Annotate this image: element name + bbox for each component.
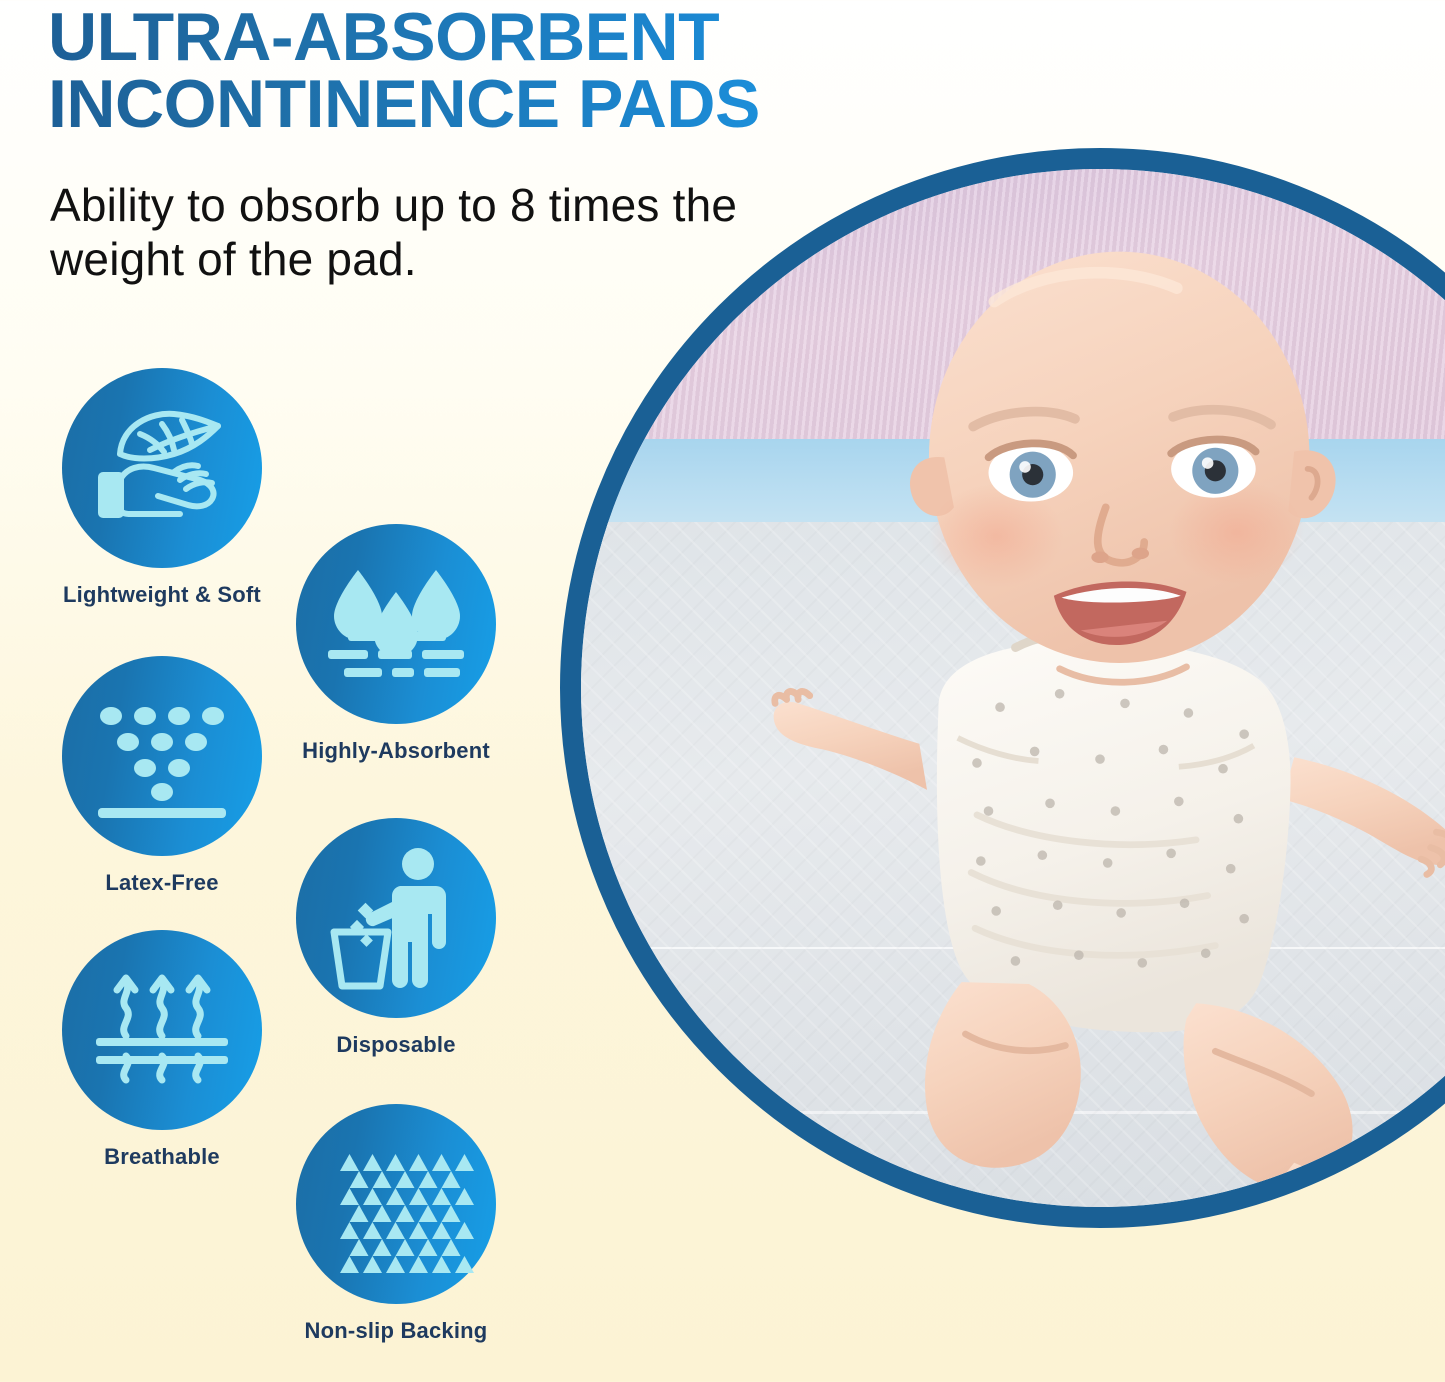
feature-non-slip-backing: Non-slip Backing xyxy=(296,1104,496,1345)
feature-lightweight-soft: Lightweight & Soft xyxy=(62,368,262,609)
water-droplets-icon xyxy=(296,524,496,724)
dots-over-bar-icon xyxy=(62,656,262,856)
headline-line-1: Ultra-Absorbent xyxy=(48,0,719,75)
leaf-in-hand-icon xyxy=(62,368,262,568)
feature-breathable: Breathable xyxy=(62,930,262,1171)
badge-circle xyxy=(62,368,262,568)
badge-circle xyxy=(296,524,496,724)
feature-label: Non-slip Backing xyxy=(296,1318,496,1345)
badge-circle xyxy=(296,1104,496,1304)
product-photo-frame xyxy=(560,148,1445,1228)
feature-label: Lightweight & Soft xyxy=(62,582,262,609)
page-title: Ultra-Absorbent Incontinence Pads xyxy=(48,4,1128,139)
headline-line-2: Incontinence Pads xyxy=(48,71,1128,138)
triangle-grip-icon xyxy=(296,1104,496,1304)
feature-label: Breathable xyxy=(62,1144,262,1171)
feature-label: Latex-Free xyxy=(62,870,262,897)
feature-label: Highly-Absorbent xyxy=(296,738,496,765)
badge-circle xyxy=(62,930,262,1130)
feature-disposable: Disposable xyxy=(296,818,496,1059)
badge-circle xyxy=(62,656,262,856)
product-photo xyxy=(581,169,1445,1207)
feature-highly-absorbent: Highly-Absorbent xyxy=(296,524,496,765)
badge-circle xyxy=(296,818,496,1018)
feature-latex-free: Latex-Free xyxy=(62,656,262,897)
baby-illustration xyxy=(581,169,1445,1207)
airflow-arrows-icon xyxy=(62,930,262,1130)
litter-bin-person-icon xyxy=(296,818,496,1018)
feature-label: Disposable xyxy=(296,1032,496,1059)
